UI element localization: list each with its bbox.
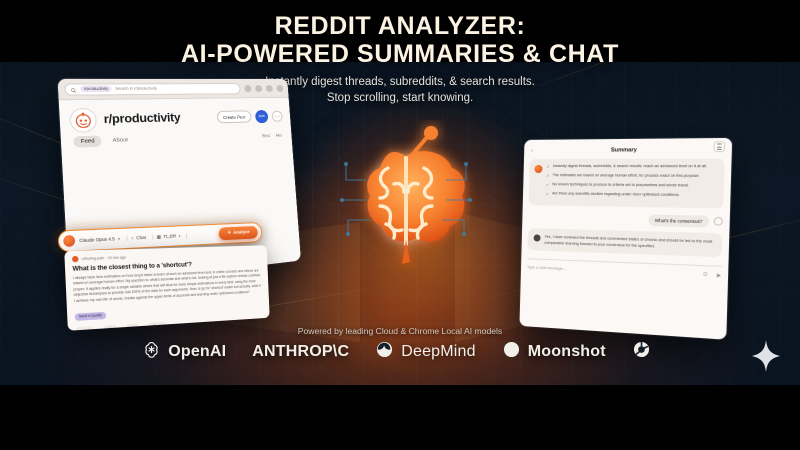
summary-chat-panel: ‹ Summary ✓ Instantly digest threads, su… [519,138,732,340]
more-options-icon[interactable]: ⋯ [271,110,282,121]
title-line-1: REDDIT ANALYZER: [275,12,526,40]
chat-composer[interactable]: Type a chat message... ☺ ➤ [527,258,722,280]
brain-extension-icon [63,235,75,247]
omnibox-chip: r/productivity [80,85,112,92]
summary-bullet-text: No known techniques to produce to criter… [552,182,689,190]
chevron-down-icon: ▾ [118,236,120,241]
search-icon [70,83,77,96]
mode-chat-label: Chat [136,235,146,241]
post-body: I always have time estimation on how lon… [73,268,263,304]
chat-input[interactable]: Type a chat message... [527,266,566,272]
address-bar[interactable]: r/productivity Search in r/productivity [64,83,241,96]
logo-chrome [632,340,658,364]
sparkle-icon [752,340,780,372]
model-label: Claude Opus 4.5 [79,236,115,243]
summary-bullet-text: The estimates are based on average human… [552,173,699,180]
chat-message-ai: Yes, I have reviewed the threads and com… [527,228,722,257]
bookmark-icon[interactable] [255,85,262,92]
sparkle-icon: ✦ [227,231,231,236]
partner-logos: OpenAI ANTHROP\C DeepMind Moonshot [0,340,800,364]
ai-avatar-icon [534,234,541,241]
subtitle-line-1: Instantly digest threads, subreddits, & … [265,76,535,88]
reddit-snoo-icon [69,108,97,133]
profile-icon[interactable] [276,85,283,92]
logo-moonshot: Moonshot [502,340,606,364]
omnibox-query: Search in r/productivity [115,86,157,91]
summary-bullet-text: Are there any scientific studies regardi… [552,191,680,199]
post-flair: Need in Quality [75,311,107,320]
model-selector[interactable]: Claude Opus 4.5 ▾ [79,236,127,243]
check-icon: ✓ [546,182,550,188]
chevron-left-icon[interactable]: ‹ [531,147,533,153]
user-message-text: What's the consensus? [648,214,709,227]
logo-openai: OpenAI [142,340,226,364]
analyze-button[interactable]: ✦ Analyze [219,226,258,240]
summary-title: Summary [611,147,637,153]
mode-chat[interactable]: ○ Chat [131,235,153,241]
title-line-2: AI-POWERED SUMMARIES & CHAT [181,40,619,68]
send-icon[interactable]: ➤ [715,272,721,280]
check-icon: ✓ [546,173,550,179]
chevron-down-icon: ▾ [178,233,180,238]
check-icon: ✓ [546,191,550,197]
chat-bubble-icon: ○ [131,235,134,240]
check-icon: ✓ [546,164,550,170]
summary-bullet-list: ✓ Instantly digest threads, subreddits, … [546,164,718,202]
chat-thread: What's the consensus? Yes, I have review… [527,212,723,280]
sort-best[interactable]: Best [262,133,270,138]
analyze-label: Analyze [233,230,250,236]
promo-banner: REDDIT ANALYZER: AI-POWERED SUMMARIES & … [0,0,800,450]
summary-card: ✓ Instantly digest threads, subreddits, … [529,159,725,208]
subreddit-actions: Create Post Join ⋯ [216,109,283,124]
emoji-icon[interactable]: ☺ [702,272,709,279]
deepmind-icon [375,340,394,364]
chat-message-user: What's the consensus? [528,212,723,228]
powered-by-text: Powered by leading Cloud & Chrome Local … [0,326,800,336]
brain-extension-icon [534,165,542,173]
hamburger-menu-icon[interactable] [714,141,726,152]
share-icon[interactable] [244,85,251,92]
tab-about[interactable]: About [112,137,128,144]
logo-label: DeepMind [401,343,476,361]
summary-bullet-text: Instantly digest threads, subreddits, & … [553,164,707,171]
list-item: ✓ No known techniques to produce to crit… [546,182,717,190]
post-author-time: u/finding-path · 15 min ago [82,255,126,261]
logo-anthropic: ANTHROP\C [252,343,349,361]
logo-deepmind: DeepMind [375,340,476,364]
openai-icon [142,340,161,364]
composer-tools: ☺ ➤ [702,271,722,279]
sort-hot[interactable]: Hot [276,132,282,137]
list-item: ✓ Are there any scientific studies regar… [546,191,717,200]
logo-label: OpenAI [168,343,226,361]
document-icon: ▦ [157,234,162,240]
reddit-post-card: u/finding-path · 15 min ago What is the … [64,245,269,331]
summary-header: ‹ Summary [530,143,725,156]
user-avatar-icon [714,217,723,226]
sort-controls: Best Hot [262,132,282,138]
logo-label: ANTHROP\C [252,343,349,361]
page-title: REDDIT ANALYZER: AI-POWERED SUMMARIES & … [0,12,800,68]
tab-feed[interactable]: Feed [73,135,102,147]
join-button[interactable]: Join [255,109,269,122]
subreddit-name: r/productivity [103,112,180,127]
list-item: ✓ The estimates are based on average hum… [546,173,717,181]
subtitle-line-2: Stop scrolling, start knowing. [327,92,473,104]
logo-label: Moonshot [528,343,606,361]
mode-tldr-label: TL;DR [163,233,176,239]
list-item: ✓ Instantly digest threads, subreddits, … [546,164,717,171]
browser-chrome-bar: r/productivity Search in r/productivity [58,79,289,101]
brain-icon [336,120,476,280]
avatar [72,256,79,262]
moonshot-icon [502,340,521,364]
create-post-button[interactable]: Create Post [216,110,251,123]
chrome-icon [632,340,651,364]
mode-tldr[interactable]: ▦ TL;DR ▾ [157,232,188,239]
ai-message-text: Yes, I have reviewed the threads and com… [544,233,715,251]
bell-icon[interactable] [266,85,273,92]
